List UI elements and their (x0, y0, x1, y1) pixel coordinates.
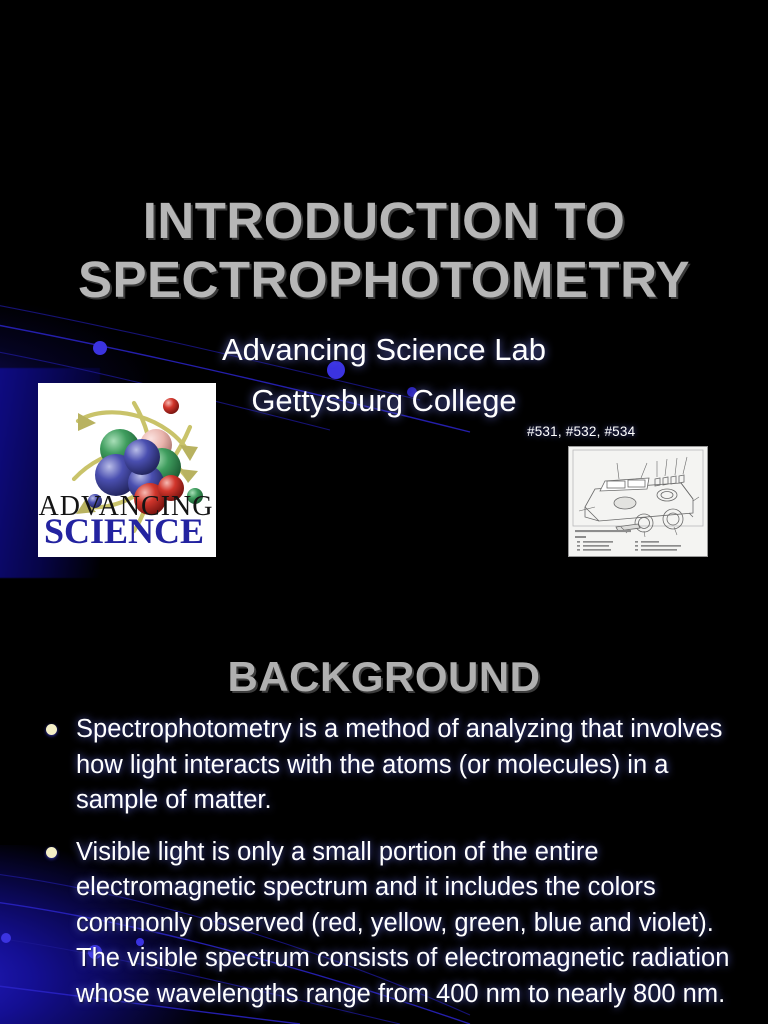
advancing-science-logo: ADVANCING SCIENCE (38, 383, 216, 557)
presentation-slide: INTRODUCTION TO SPECTROPHOTOMETRY Advanc… (0, 0, 768, 1024)
list-item-text: Visible light is only a small portion of… (76, 838, 729, 1008)
bullet-dot-icon (46, 724, 57, 735)
slide-title-line-1: INTRODUCTION TO (0, 192, 768, 251)
slide-title-line-2: SPECTROPHOTOMETRY (0, 251, 768, 310)
slide-title: INTRODUCTION TO SPECTROPHOTOMETRY (0, 192, 768, 309)
logo-word-science: SCIENCE (44, 511, 204, 551)
list-item: Spectrophotometry is a method of analyzi… (40, 712, 740, 819)
spectrophotometer-line-drawing (569, 447, 707, 556)
spectrophotometer-figure (568, 446, 708, 557)
list-item: Visible light is only a small portion of… (40, 835, 740, 1013)
atom-logo-graphic: ADVANCING SCIENCE (38, 383, 216, 557)
slide-subtitle-lab: Advancing Science Lab (0, 332, 768, 368)
bullet-dot-icon (46, 847, 57, 858)
course-codes-label: #531, #532, #534 (527, 424, 635, 439)
list-item-text: Spectrophotometry is a method of analyzi… (76, 715, 722, 814)
background-node-dot (1, 933, 11, 943)
background-bullet-list: Spectrophotometry is a method of analyzi… (40, 712, 740, 1024)
section-heading-background: BACKGROUND (0, 653, 768, 701)
